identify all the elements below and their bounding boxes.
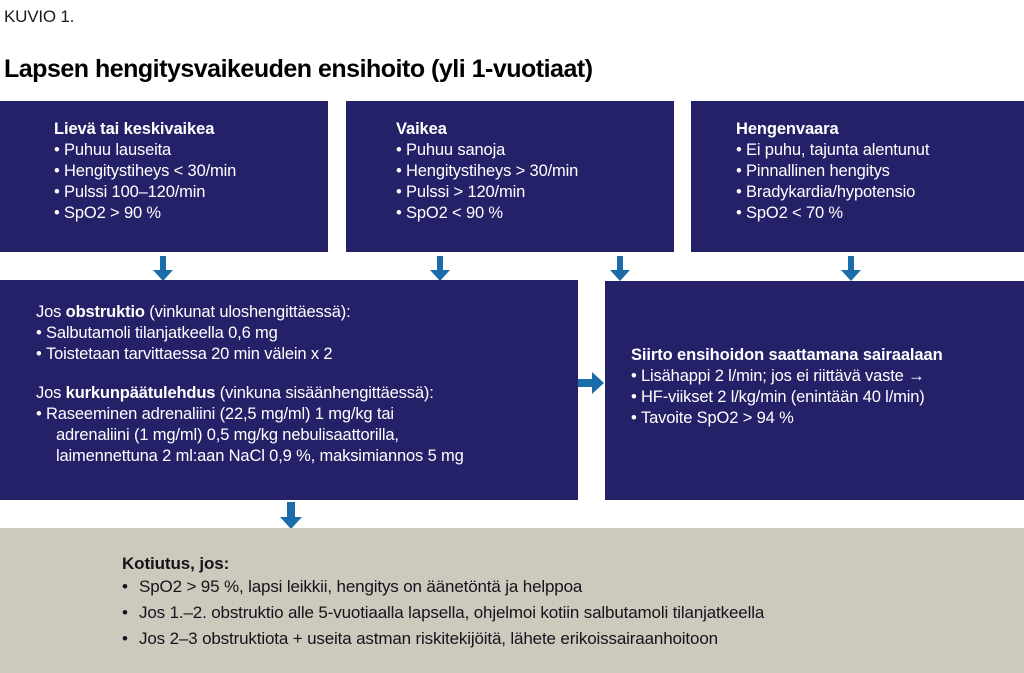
- discharge-title: Kotiutus, jos:: [122, 553, 1024, 574]
- transfer-item-0: •Lisähappi 2 l/min; jos ei riittävä vast…: [631, 366, 1024, 387]
- bullet-icon: •: [36, 404, 46, 425]
- bullet-icon: •: [54, 182, 64, 203]
- obstruction-item-0: •Salbutamoli tilanjatkeella 0,6 mg: [36, 323, 578, 344]
- arrow-severe-to-transfer: [607, 256, 633, 282]
- bullet-icon: •: [736, 182, 746, 203]
- severe-item-0: •Puhuu sanoja: [396, 140, 674, 161]
- discharge-item-0: •SpO2 > 95 %, lapsi leikkii, hengitys on…: [122, 574, 1024, 600]
- severity-box-severe: Vaikea •Puhuu sanoja •Hengitystiheys > 3…: [346, 101, 674, 252]
- croup-item-line-2: laimennettuna 2 ml:aan NaCl 0,9 %, maksi…: [36, 446, 578, 467]
- bullet-icon: •: [122, 574, 139, 600]
- mild-item-1: •Hengitystiheys < 30/min: [54, 161, 328, 182]
- danger-title: Hengenvaara: [736, 119, 1024, 140]
- bullet-icon: •: [736, 161, 746, 182]
- mild-item-3: •SpO2 > 90 %: [54, 203, 328, 224]
- bullet-icon: •: [631, 366, 641, 387]
- danger-item-1: •Pinnallinen hengitys: [736, 161, 1024, 182]
- mild-item-2: •Pulssi 100–120/min: [54, 182, 328, 203]
- discharge-box: Kotiutus, jos: •SpO2 > 95 %, lapsi leikk…: [0, 528, 1024, 673]
- mild-title: Lievä tai keskivaikea: [54, 119, 328, 140]
- bullet-icon: •: [736, 140, 746, 161]
- bullet-icon: •: [396, 140, 406, 161]
- bullet-icon: •: [122, 600, 139, 626]
- arrow-mild-to-treatment: [150, 256, 176, 282]
- bullet-icon: •: [396, 182, 406, 203]
- bullet-icon: •: [54, 140, 64, 161]
- severe-item-3: •SpO2 < 90 %: [396, 203, 674, 224]
- arrow-danger-to-transfer: [838, 256, 864, 282]
- danger-item-2: •Bradykardia/hypotensio: [736, 182, 1024, 203]
- danger-item-3: •SpO2 < 70 %: [736, 203, 1024, 224]
- severity-box-life-threatening: Hengenvaara •Ei puhu, tajunta alentunut …: [691, 101, 1024, 252]
- arrow-treatment-to-discharge: [277, 502, 305, 530]
- bullet-icon: •: [54, 161, 64, 182]
- severe-item-1: •Hengitystiheys > 30/min: [396, 161, 674, 182]
- croup-item-line-0: •Raseeminen adrenaliini (22,5 mg/ml) 1 m…: [36, 404, 578, 425]
- page-title: Lapsen hengitysvaikeuden ensihoito (yli …: [4, 55, 593, 84]
- obstruction-item-1: •Toistetaan tarvittaessa 20 min välein x…: [36, 344, 578, 365]
- obstruction-heading: Jos obstruktio (vinkunat uloshengittäess…: [36, 302, 578, 323]
- severe-title: Vaikea: [396, 119, 674, 140]
- bullet-icon: •: [36, 344, 46, 365]
- severity-box-mild: Lievä tai keskivaikea •Puhuu lauseita •H…: [0, 101, 328, 252]
- mild-item-0: •Puhuu lauseita: [54, 140, 328, 161]
- bullet-icon: •: [631, 387, 641, 408]
- bullet-icon: •: [396, 203, 406, 224]
- transfer-item-1: •HF-viikset 2 l/kg/min (enintään 40 l/mi…: [631, 387, 1024, 408]
- figure-canvas: KUVIO 1. Lapsen hengitysvaikeuden ensiho…: [0, 0, 1024, 673]
- transfer-title: Siirto ensihoidon saattamana sairaalaan: [631, 345, 1024, 366]
- bullet-icon: •: [122, 626, 139, 652]
- danger-item-0: •Ei puhu, tajunta alentunut: [736, 140, 1024, 161]
- transfer-item-2: •Tavoite SpO2 > 94 %: [631, 408, 1024, 429]
- bullet-icon: •: [396, 161, 406, 182]
- figure-label: KUVIO 1.: [4, 7, 74, 27]
- section-spacer: [36, 365, 578, 383]
- severe-item-2: •Pulssi > 120/min: [396, 182, 674, 203]
- arrow-treatment-to-transfer: [578, 371, 605, 395]
- croup-heading: Jos kurkunpäätulehdus (vinkuna sisäänhen…: [36, 383, 578, 404]
- arrow-severe-to-treatment: [427, 256, 453, 282]
- bullet-icon: •: [736, 203, 746, 224]
- bullet-icon: •: [36, 323, 46, 344]
- discharge-item-1: •Jos 1.–2. obstruktio alle 5-vuotiaalla …: [122, 600, 1024, 626]
- transfer-box: Siirto ensihoidon saattamana sairaalaan …: [605, 281, 1024, 500]
- discharge-item-2: •Jos 2–3 obstruktiota + useita astman ri…: [122, 626, 1024, 652]
- treatment-box: Jos obstruktio (vinkunat uloshengittäess…: [0, 280, 578, 500]
- croup-item-line-1: adrenaliini (1 mg/ml) 0,5 mg/kg nebulisa…: [36, 425, 578, 446]
- bullet-icon: •: [54, 203, 64, 224]
- bullet-icon: •: [631, 408, 641, 429]
